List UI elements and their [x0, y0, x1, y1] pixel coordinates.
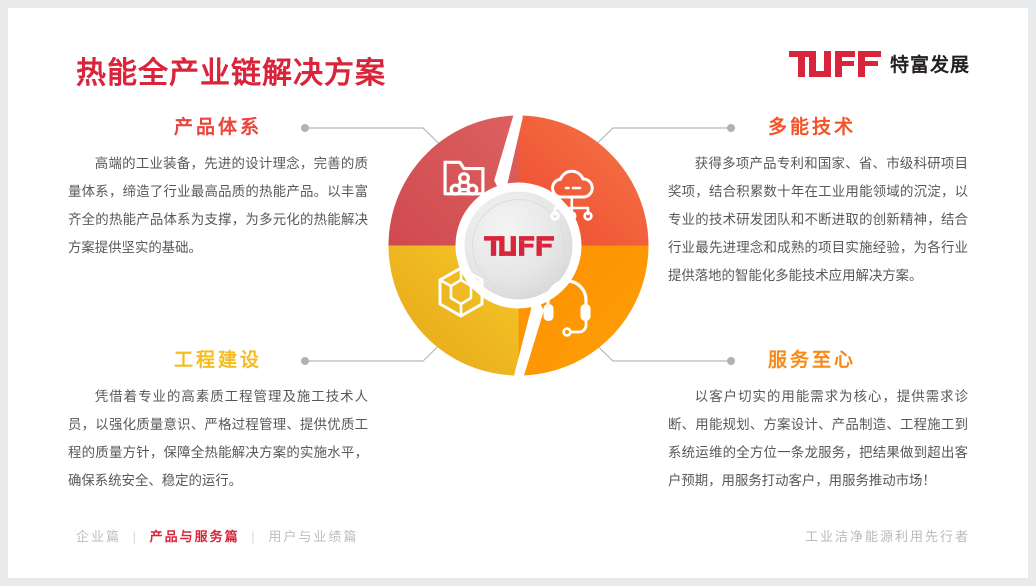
quadrant-heading-product-system: 产品体系 [68, 118, 368, 137]
breadcrumb-item-enterprise[interactable]: 企业篇 [76, 529, 121, 544]
quadrant-multi-energy: 多能技术 获得多项产品专利和国家、省、市级科研项目奖项，结合积累数十年在工业用能… [668, 118, 968, 290]
quadrant-body-multi-energy: 获得多项产品专利和国家、省、市级科研项目奖项，结合积累数十年在工业用能领域的沉淀… [668, 150, 968, 290]
quadrant-product-system: 产品体系 高端的工业装备，先进的设计理念，完善的质量体系，缔造了行业最高品质的热… [68, 118, 368, 262]
breadcrumb-item-products-services[interactable]: 产品与服务篇 [150, 529, 240, 544]
quadrant-heading-engineering: 工程建设 [68, 351, 368, 370]
page-title: 热能全产业链解决方案 [76, 48, 386, 92]
footer-tagline: 工业洁净能源利用先行者 [805, 526, 970, 545]
quadrant-body-product-system: 高端的工业装备，先进的设计理念，完善的质量体系，缔造了行业最高品质的热能产品。以… [68, 150, 368, 262]
breadcrumb-item-customers-performance[interactable]: 用户与业绩篇 [268, 529, 358, 544]
breadcrumb-separator-2: | [251, 529, 256, 544]
quadrant-heading-multi-energy: 多能技术 [668, 118, 968, 137]
breadcrumb: 企业篇 | 产品与服务篇 | 用户与业绩篇 [76, 526, 358, 545]
brand-logo: 特富发展 [789, 50, 970, 77]
breadcrumb-separator-1: | [133, 529, 138, 544]
slide-canvas: 热能全产业链解决方案 特富发展 [8, 8, 1028, 578]
quadrant-body-engineering: 凭借着专业的高素质工程管理及施工技术人员，以强化质量意识、严格过程管理、提供优质… [68, 383, 368, 495]
quadrant-body-service-first: 以客户切实的用能需求为核心，提供需求诊断、用能规划、方案设计、产品制造、工程施工… [668, 383, 968, 495]
brand-name-cn: 特富发展 [890, 50, 970, 77]
quadrant-engineering: 工程建设 凭借着专业的高素质工程管理及施工技术人员，以强化质量意识、严格过程管理… [68, 351, 368, 495]
quadrant-heading-service-first: 服务至心 [668, 351, 968, 370]
tuff-logo-icon [789, 51, 881, 77]
segmented-wheel [381, 108, 656, 383]
quadrant-service-first: 服务至心 以客户切实的用能需求为核心，提供需求诊断、用能规划、方案设计、产品制造… [668, 351, 968, 495]
